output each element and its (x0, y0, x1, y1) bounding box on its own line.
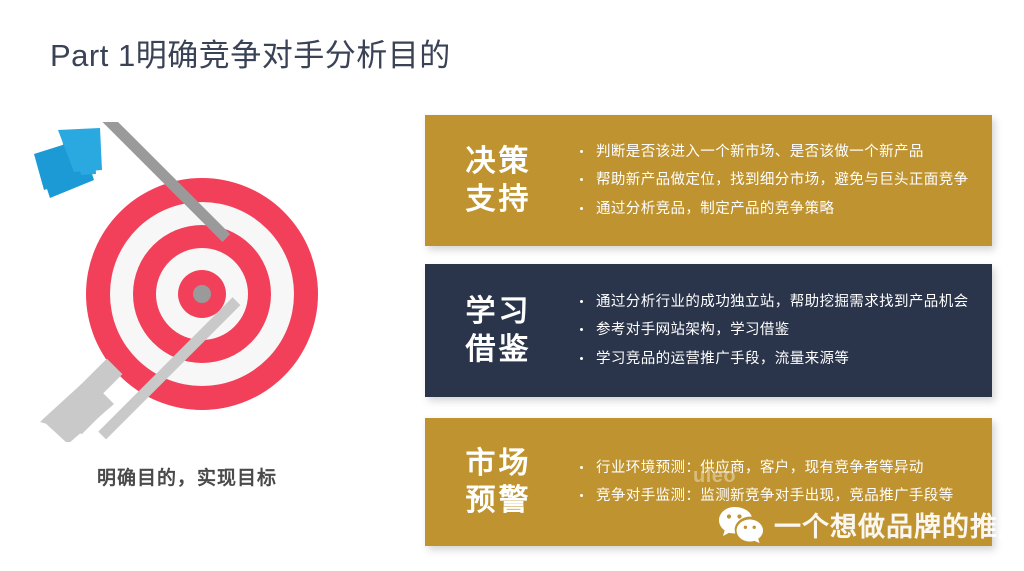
card-label-line: 学习 (437, 293, 560, 330)
list-item: 参考对手网站架构，学习借鉴 (578, 316, 978, 344)
list-item: 竞争对手监测：监测新竞争对手出现，竞品推广手段等 (578, 482, 978, 510)
card-learning-reference[interactable]: 学习 借鉴 通过分析行业的成功独立站，帮助挖掘需求找到产品机会 参考对手网站架构… (425, 264, 992, 397)
illustration-caption: 明确目的，实现目标 (22, 463, 352, 490)
card-label-line: 借鉴 (437, 331, 560, 368)
slide-canvas: Part 1明确竞争对手分析目的 (0, 0, 1024, 571)
list-item: 行业环境预测：供应商，客户，现有竞争者等异动 (578, 454, 978, 482)
card-bullet-list-learning-reference: 通过分析行业的成功独立站，帮助挖掘需求找到产品机会 参考对手网站架构，学习借鉴 … (560, 288, 992, 373)
list-item: 帮助新产品做定位，找到细分市场，避免与巨头正面竞争 (578, 166, 978, 194)
card-market-alert[interactable]: 市场 预警 行业环境预测：供应商，客户，现有竞争者等异动 竞争对手监测：监测新竞… (425, 418, 992, 546)
card-bullet-list-market-alert: 行业环境预测：供应商，客户，现有竞争者等异动 竞争对手监测：监测新竞争对手出现，… (560, 454, 992, 511)
list-item: 通过分析竞品，制定产品的竞争策略 (578, 195, 978, 223)
list-item: 判断是否该进入一个新市场、是否该做一个新产品 (578, 138, 978, 166)
card-label-line: 支持 (437, 181, 560, 218)
card-decision-support[interactable]: 决策 支持 判断是否该进入一个新市场、是否该做一个新产品 帮助新产品做定位，找到… (425, 115, 992, 246)
page-title: Part 1明确竞争对手分析目的 (50, 30, 451, 75)
card-label-line: 预警 (437, 482, 560, 519)
target-with-arrow-icon (22, 122, 342, 442)
card-label-learning-reference: 学习 借鉴 (425, 293, 560, 367)
card-label-line: 市场 (437, 445, 560, 482)
card-label-line: 决策 (437, 143, 560, 180)
card-bullet-list-decision-support: 判断是否该进入一个新市场、是否该做一个新产品 帮助新产品做定位，找到细分市场，避… (560, 138, 992, 223)
list-item: 学习竞品的运营推广手段，流量来源等 (578, 345, 978, 373)
list-item: 通过分析行业的成功独立站，帮助挖掘需求找到产品机会 (578, 288, 978, 316)
card-label-market-alert: 市场 预警 (425, 445, 560, 519)
card-label-decision-support: 决策 支持 (425, 143, 560, 217)
